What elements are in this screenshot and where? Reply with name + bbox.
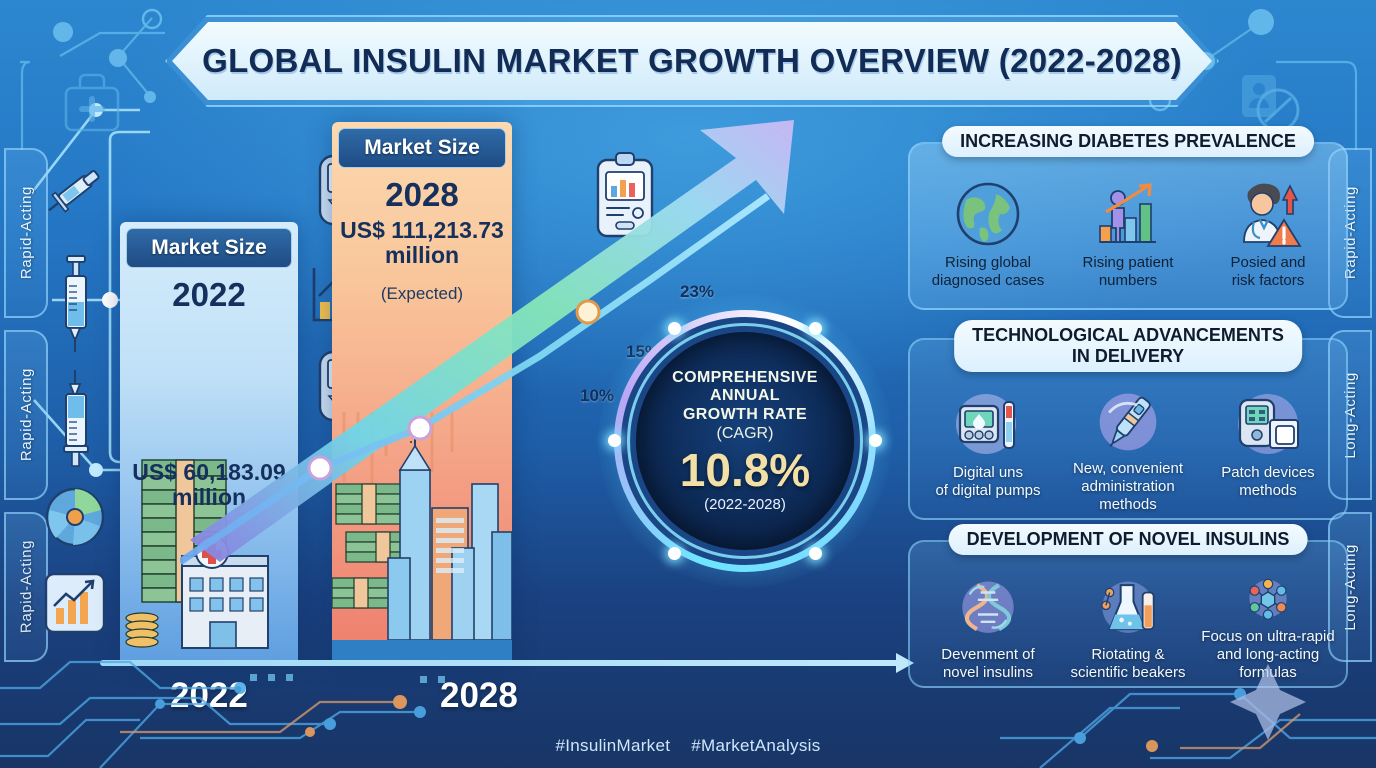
panel-title: DEVELOPMENT OF NOVEL INSULINS (949, 524, 1308, 555)
list-item[interactable]: Posied andrisk factors (1198, 178, 1338, 304)
cagr-title-line3: GROWTH RATE (683, 406, 807, 423)
cagr-node-right (869, 434, 882, 447)
list-item-label: Patch devicesmethods (1221, 464, 1314, 500)
hashtag-market-analysis: #MarketAnalysis (691, 736, 820, 755)
footer-hashtags: #InsulinMarket #MarketAnalysis (0, 736, 1376, 756)
list-item-label: Rising globaldiagnosed cases (932, 254, 1045, 290)
panel-cells: Rising globaldiagnosed cases Rising pati… (918, 178, 1338, 304)
id-badge-icon (1242, 75, 1276, 117)
panel-development-novel-insulins[interactable]: DEVELOPMENT OF NOVEL INSULINS Devenment … (908, 540, 1348, 688)
person-bar-chart-icon (1092, 178, 1164, 250)
cagr-subtitle: (CAGR) (717, 425, 774, 443)
rail-label: Rapid-Acting (18, 186, 35, 279)
list-item-label: Riotating &scientific beakers (1070, 646, 1185, 682)
panel-title: TECHNOLOGICAL ADVANCEMENTSIN DELIVERY (954, 320, 1302, 372)
panel-technological-advancements[interactable]: TECHNOLOGICAL ADVANCEMENTSIN DELIVERY Di… (908, 338, 1348, 520)
rail-label: Rapid-Acting (18, 368, 35, 461)
cagr-badge[interactable]: COMPREHENSIVE ANNUAL GROWTH RATE (CAGR) … (614, 310, 876, 572)
list-item-label: Focus on ultra-rapidand long-acting form… (1198, 628, 1338, 682)
list-item[interactable]: Focus on ultra-rapidand long-acting form… (1198, 576, 1338, 682)
list-item-label: Digital unsof digital pumps (935, 464, 1040, 500)
list-item[interactable]: Rising globaldiagnosed cases (918, 178, 1058, 304)
globe-icon (952, 178, 1024, 250)
doctor-warning-icon (1232, 178, 1304, 250)
list-item[interactable]: Patch devicesmethods (1198, 388, 1338, 514)
list-item[interactable]: Rising patientnumbers (1058, 178, 1198, 304)
cagr-title-line1: COMPREHENSIVE (672, 369, 818, 386)
axis-label-2022: 2022 (170, 676, 248, 716)
panel-title: INCREASING DIABETES PREVALENCE (942, 126, 1314, 157)
cagr-title-line2: ANNUAL (710, 387, 780, 404)
panel-cells: Devenment ofnovel insulins Riotating &sc… (918, 576, 1338, 682)
patch-device-icon (1232, 388, 1304, 460)
cagr-node-bottom-left (668, 547, 681, 560)
no-entry-icon (1258, 90, 1298, 130)
list-item[interactable]: Riotating &scientific beakers (1058, 576, 1198, 682)
list-item-label: New, convenientadministrationmethods (1073, 460, 1183, 514)
list-item[interactable]: Devenment ofnovel insulins (918, 576, 1058, 682)
digital-pump-icon (952, 388, 1024, 460)
cagr-core: COMPREHENSIVE ANNUAL GROWTH RATE (CAGR) … (636, 332, 854, 550)
page-title: GLOBAL INSULIN MARKET GROWTH OVERVIEW (2… (172, 22, 1212, 100)
insulin-pen-icon (1092, 388, 1164, 456)
panel-cells: Digital unsof digital pumps New, conveni… (918, 388, 1338, 514)
cagr-node-top-right (809, 322, 822, 335)
title-text: GLOBAL INSULIN MARKET GROWTH OVERVIEW (2… (172, 22, 1212, 100)
cagr-title: COMPREHENSIVE ANNUAL GROWTH RATE (672, 369, 818, 425)
molecule-icon (1232, 576, 1304, 624)
axis-label-2028: 2028 (440, 676, 518, 716)
list-item-label: Devenment ofnovel insulins (941, 646, 1034, 682)
cagr-value: 10.8% (680, 447, 810, 493)
cagr-node-left (608, 434, 621, 447)
list-item[interactable]: Digital unsof digital pumps (918, 388, 1058, 514)
beaker-flask-icon (1092, 576, 1164, 642)
rail-label: Rapid-Acting (18, 540, 35, 634)
list-item[interactable]: New, convenientadministrationmethods (1058, 388, 1198, 514)
cagr-range: (2022-2028) (704, 496, 786, 513)
panel-increasing-diabetes-prevalence[interactable]: INCREASING DIABETES PREVALENCE Rising gl… (908, 142, 1348, 310)
dna-helix-icon (952, 576, 1024, 642)
x-axis (100, 660, 900, 666)
list-item-label: Rising patientnumbers (1083, 254, 1174, 290)
cagr-node-bottom-right (809, 547, 822, 560)
hashtag-insulin-market: #InsulinMarket (556, 736, 671, 755)
infographic-canvas: GLOBAL INSULIN MARKET GROWTH OVERVIEW (2… (0, 0, 1376, 768)
cagr-node-top-left (668, 322, 681, 335)
list-item-label: Posied andrisk factors (1230, 254, 1305, 290)
